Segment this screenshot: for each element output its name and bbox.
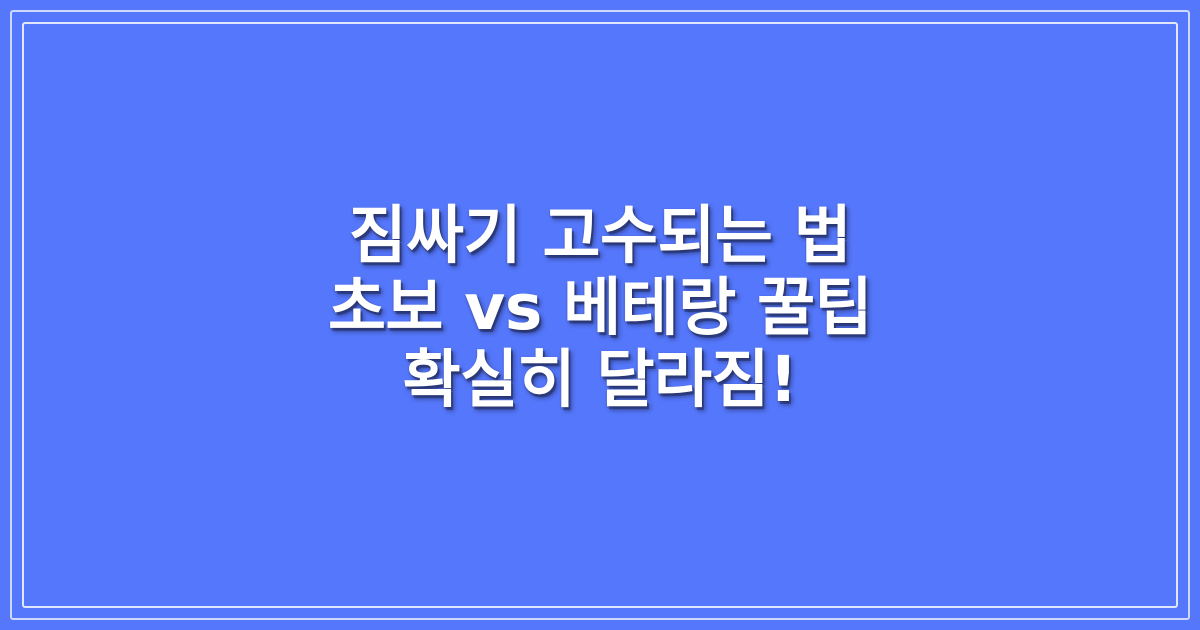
thumbnail-card: 짐싸기 고수되는 법 초보 vs 베테랑 꿀팁 확실히 달라짐!: [0, 0, 1200, 630]
headline-line-3: 확실히 달라짐!: [403, 344, 797, 416]
headline-line-1: 짐싸기 고수되는 법: [349, 200, 852, 272]
headline-block: 짐싸기 고수되는 법 초보 vs 베테랑 꿀팁 확실히 달라짐!: [0, 0, 1200, 630]
headline-line-2: 초보 vs 베테랑 꿀팁: [328, 272, 872, 344]
